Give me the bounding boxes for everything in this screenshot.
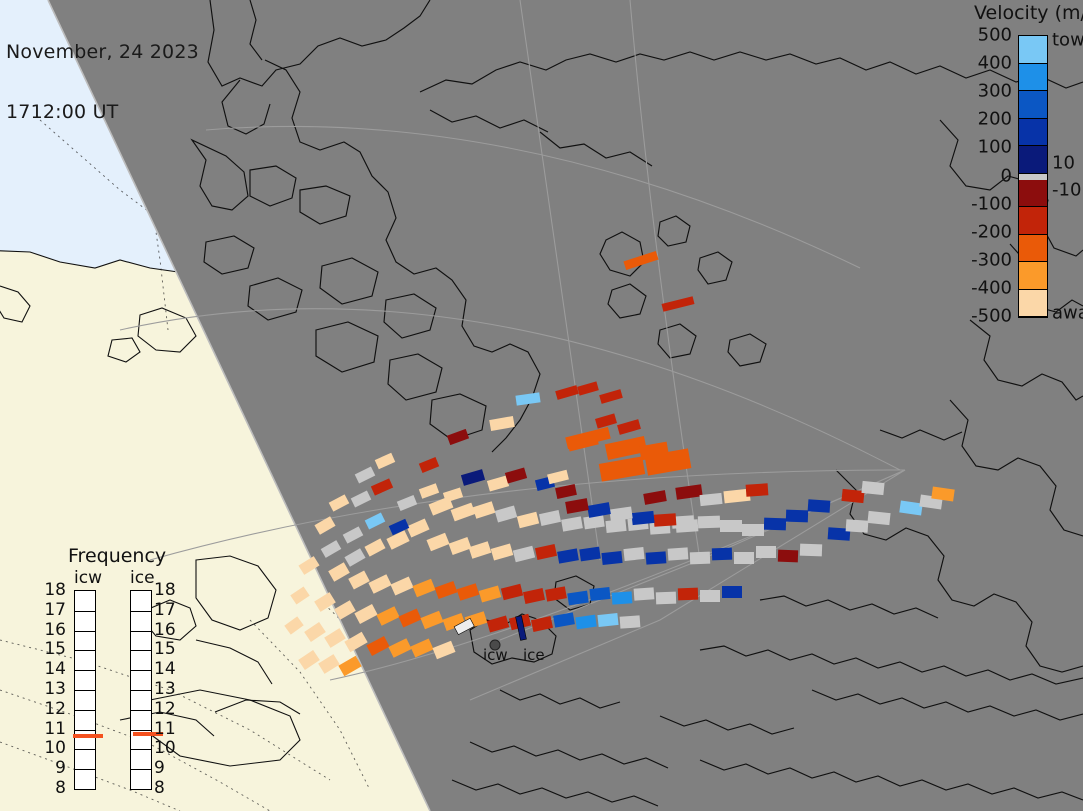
frequency-tick [131, 650, 151, 651]
velocity-cell[interactable]: 0 m/s [620, 615, 641, 628]
map-site-label-icw: icw [483, 646, 508, 664]
colorbar-segment [1019, 180, 1047, 208]
colorbar-tick: 0 [1001, 165, 1012, 186]
velocity-cell[interactable]: 0 m/s [698, 516, 720, 529]
velocity-cell[interactable]: 150 m/s [764, 518, 786, 531]
frequency-tick [131, 749, 151, 750]
frequency-scale-label: 15 [154, 639, 176, 659]
colorbar-tick: -100 [971, 193, 1012, 214]
velocity-cell[interactable]: 260 m/s [589, 587, 610, 601]
frequency-scale-labels-left: 18171615141312111098 [44, 590, 66, 790]
frequency-scale-label: 12 [154, 699, 176, 719]
colorbar-toward-label: toward [1052, 30, 1083, 51]
frequency-scale-label: 9 [55, 758, 66, 778]
colorbar-title: Velocity (m/s) [974, 2, 1083, 24]
frequency-legend: Frequency icw ice 18171615141312111098 1… [52, 545, 202, 795]
velocity-cell[interactable]: -90 m/s [778, 550, 798, 563]
velocity-cell[interactable]: 0 m/s [676, 519, 699, 533]
colorbar-tick: 500 [978, 25, 1012, 46]
frequency-scale-label: 14 [154, 659, 176, 679]
velocity-cell[interactable]: 0 m/s [867, 511, 890, 525]
colorbar-tick: 200 [978, 109, 1012, 130]
frequency-scale-label: 17 [154, 600, 176, 620]
frequency-scale-labels-right: 18171615141312111098 [154, 590, 176, 790]
colorbar-segment [1019, 207, 1047, 235]
velocity-cell[interactable]: 0 m/s [700, 590, 720, 602]
map-site-label-ice: ice [523, 646, 545, 664]
frequency-tick [75, 631, 95, 632]
frequency-tick [75, 710, 95, 711]
frequency-scale-label: 18 [44, 580, 66, 600]
frequency-marker-icw [73, 734, 103, 738]
frequency-tick [131, 670, 151, 671]
frequency-scale-label: 11 [44, 719, 66, 739]
colorbar-segment [1019, 235, 1047, 263]
timestamp-block: November, 24 2023 1712:00 UT [6, 2, 199, 162]
frequency-scale-label: 8 [55, 778, 66, 798]
colorbar-tick: 400 [978, 53, 1012, 74]
velocity-cell[interactable]: 0 m/s [634, 587, 655, 600]
velocity-cell[interactable]: 0 m/s [742, 524, 764, 536]
frequency-tick [131, 769, 151, 770]
colorbar-tick: 100 [978, 137, 1012, 158]
frequency-scale-label: 18 [154, 580, 176, 600]
frequency-tick [75, 611, 95, 612]
velocity-cell[interactable]: 0 m/s [756, 546, 776, 558]
colorbar-segment [1019, 119, 1047, 147]
velocity-cell[interactable]: 160 m/s [722, 586, 742, 598]
frequency-tick [131, 690, 151, 691]
velocity-cell[interactable]: 0 m/s [668, 547, 689, 560]
velocity-cell[interactable]: 0 m/s [800, 544, 822, 557]
velocity-cell[interactable]: -180 m/s [746, 483, 769, 497]
frequency-scale-label: 16 [154, 620, 176, 640]
velocity-cell[interactable]: 190 m/s [808, 499, 831, 513]
colorbar-segment [1019, 64, 1047, 92]
velocity-cell[interactable]: 0 m/s [699, 493, 722, 506]
frequency-tick [131, 710, 151, 711]
frequency-scale-label: 10 [154, 738, 176, 758]
velocity-cell[interactable]: 0 m/s [605, 519, 626, 533]
frequency-tick [75, 769, 95, 770]
frequency-scale-label: 15 [44, 639, 66, 659]
timestamp-time: 1712:00 UT [6, 102, 199, 122]
frequency-scale-label: 13 [44, 679, 66, 699]
colorbar-tick: -500 [971, 306, 1012, 327]
frequency-tick [75, 730, 95, 731]
frequency-scale-label: 11 [154, 719, 176, 739]
velocity-cell[interactable]: 0 m/s [656, 592, 676, 605]
colorbar-tick: 300 [978, 81, 1012, 102]
colorbar-segment [1019, 262, 1047, 290]
colorbar-segment [1019, 290, 1047, 318]
frequency-scale-label: 17 [44, 600, 66, 620]
frequency-scale-label: 9 [154, 758, 165, 778]
frequency-tick [75, 749, 95, 750]
frequency-tick [131, 611, 151, 612]
frequency-tick [75, 670, 95, 671]
frequency-tick [75, 690, 95, 691]
colorbar-swatches[interactable] [1018, 35, 1048, 318]
velocity-cell[interactable]: -100 m/s [841, 489, 864, 503]
frequency-scale-label: 14 [44, 659, 66, 679]
frequency-tick [131, 730, 151, 731]
colorbar-side-labels: toward 10 -10 away [1052, 35, 1083, 318]
radar-map-figure: -270 m/s-160 m/s430 m/s-180 m/s-160 m/s-… [0, 0, 1083, 811]
velocity-colorbar: Velocity (m/s) 5004003002001000-100-200-… [960, 2, 1083, 322]
frequency-radar-name-ice: ice [130, 568, 155, 588]
colorbar-lower-threshold-label: -10 [1052, 180, 1081, 201]
velocity-cell[interactable]: 0 m/s [846, 519, 869, 533]
velocity-cell[interactable]: 0 m/s [734, 552, 754, 564]
velocity-cell[interactable]: 0 m/s [623, 547, 644, 561]
frequency-bar-icw[interactable] [74, 590, 96, 790]
frequency-radar-name-icw: icw [74, 568, 102, 588]
frequency-scale-label: 13 [154, 679, 176, 699]
frequency-scale-label: 8 [154, 778, 165, 798]
colorbar-tick-labels: 5004003002001000-100-200-300-400-500 [960, 35, 1012, 318]
velocity-cell[interactable]: 420 m/s [597, 613, 618, 627]
velocity-cell[interactable]: 330 m/s [612, 591, 633, 604]
colorbar-upper-threshold-label: 10 [1052, 153, 1075, 174]
colorbar-segment [1019, 36, 1047, 64]
frequency-scale-label: 12 [44, 699, 66, 719]
frequency-scale-label: 10 [44, 738, 66, 758]
velocity-cell[interactable]: -140 m/s [654, 513, 677, 527]
velocity-cell[interactable]: 140 m/s [631, 511, 654, 525]
velocity-cell[interactable]: 160 m/s [646, 551, 667, 564]
colorbar-tick: -400 [971, 277, 1012, 298]
velocity-cell[interactable]: 160 m/s [712, 548, 732, 561]
frequency-tick [75, 650, 95, 651]
velocity-cell[interactable]: -120 m/s [678, 588, 698, 601]
colorbar-away-label: away [1052, 303, 1083, 324]
frequency-legend-title: Frequency [68, 545, 166, 567]
velocity-cell[interactable]: 0 m/s [690, 552, 710, 565]
colorbar-segment [1019, 146, 1047, 174]
frequency-tick [131, 631, 151, 632]
frequency-scale-label: 16 [44, 620, 66, 640]
colorbar-tick: -300 [971, 249, 1012, 270]
colorbar-tick: -200 [971, 221, 1012, 242]
velocity-cell[interactable]: 130 m/s [601, 551, 622, 565]
velocity-cell[interactable]: 0 m/s [720, 520, 742, 532]
colorbar-segment [1019, 91, 1047, 119]
velocity-cell[interactable]: 0 m/s [861, 481, 884, 495]
timestamp-date: November, 24 2023 [6, 42, 199, 62]
velocity-cell[interactable]: 180 m/s [786, 510, 808, 523]
frequency-bar-ice[interactable] [130, 590, 152, 790]
